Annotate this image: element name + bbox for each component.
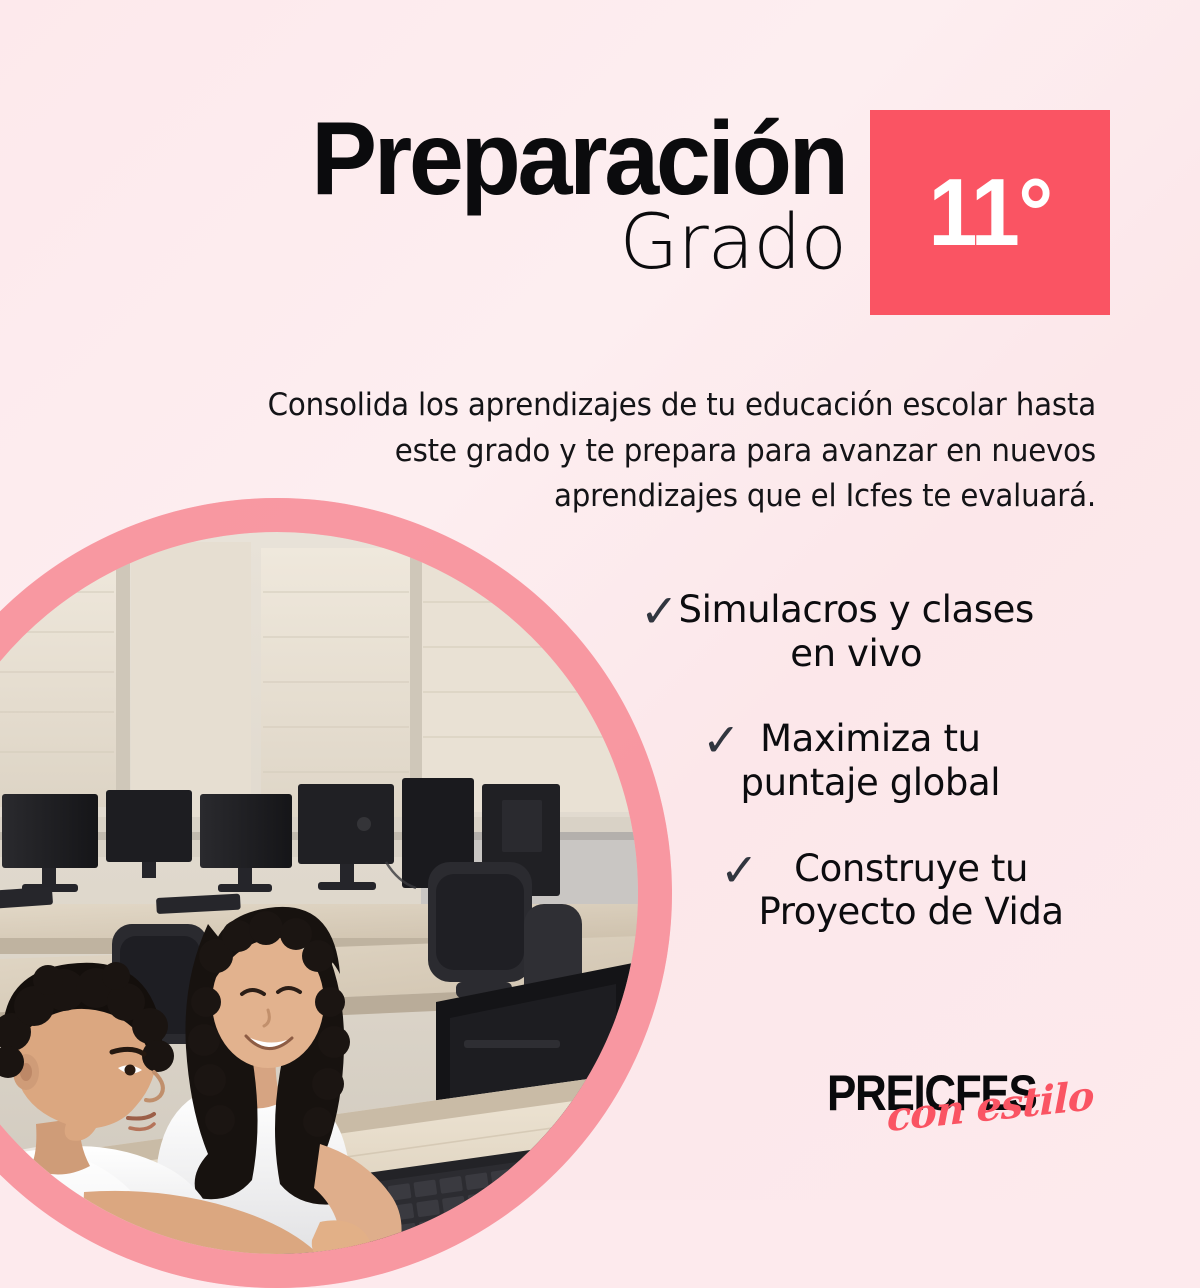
header: Preparación Grado 11° [0, 110, 1110, 315]
benefit-label: Simulacros y clases en vivo [679, 588, 1034, 675]
benefit-label: Construye tu Proyecto de Vida [759, 847, 1064, 934]
check-icon: ✓ [640, 590, 679, 634]
intro-paragraph: Consolida los aprendizajes de tu educaci… [259, 383, 1096, 520]
benefit-label: Maximiza tu puntaje global [741, 717, 1001, 804]
check-icon: ✓ [720, 849, 759, 893]
benefit-item-simulacros: ✓ Simulacros y clases en vivo [640, 588, 1110, 675]
benefit-item-proyecto-vida: ✓ Construye tu Proyecto de Vida [640, 847, 1110, 934]
check-icon: ✓ [702, 719, 741, 763]
title-block: Preparación Grado [283, 110, 870, 280]
grade-badge: 11° [870, 110, 1110, 315]
grade-badge-label: 11° [928, 165, 1051, 261]
benefit-item-puntaje: ✓ Maximiza tu puntaje global [640, 717, 1110, 804]
brand-logo: PREICFES con estilo [827, 1068, 1095, 1138]
benefits-list: ✓ Simulacros y clases en vivo ✓ Maximiza… [640, 588, 1110, 976]
page-title: Preparación [311, 110, 846, 210]
